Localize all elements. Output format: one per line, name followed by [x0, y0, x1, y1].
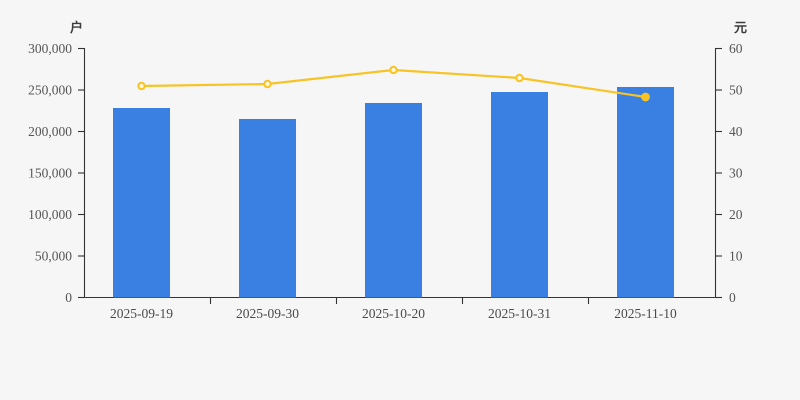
right-tick-label-50: 50 — [729, 83, 743, 98]
bar-2025-09-30[interactable] — [239, 119, 296, 298]
category-label-4: 2025-11-10 — [614, 306, 677, 321]
left-tick-label-200000: 200,000 — [28, 124, 72, 139]
bar-2025-09-19[interactable] — [113, 108, 170, 298]
category-label-3: 2025-10-31 — [488, 306, 551, 321]
category-label-2: 2025-10-20 — [362, 306, 425, 321]
bar-2025-10-31[interactable] — [491, 92, 548, 298]
left-tick-label-100000: 100,000 — [28, 207, 72, 222]
line-point-2025-09-30[interactable] — [264, 81, 270, 87]
category-label-1: 2025-09-30 — [236, 306, 299, 321]
left-tick-label-0: 0 — [65, 290, 72, 305]
right-axis-unit-label: 元 — [734, 21, 747, 36]
chart-container: 户 元 300,000 250,000 200,000 150,000 100,… — [0, 0, 800, 400]
bar-2025-10-20[interactable] — [365, 103, 422, 298]
right-tick-label-0: 0 — [729, 290, 736, 305]
right-tick-label-60: 60 — [729, 41, 743, 56]
bar-2025-11-10[interactable] — [617, 87, 674, 298]
category-label-0: 2025-09-19 — [110, 306, 173, 321]
right-tick-label-20: 20 — [729, 207, 743, 222]
right-tick-label-30: 30 — [729, 166, 743, 181]
shareholder-count-chart: 户 元 300,000 250,000 200,000 150,000 100,… — [0, 0, 800, 400]
left-axis-unit-label: 户 — [70, 20, 83, 36]
right-tick-label-40: 40 — [729, 124, 743, 139]
left-tick-label-250000: 250,000 — [28, 83, 72, 98]
left-tick-label-300000: 300,000 — [28, 41, 72, 56]
right-tick-label-10: 10 — [729, 249, 743, 264]
left-tick-label-50000: 50,000 — [35, 249, 72, 264]
line-point-2025-10-20[interactable] — [390, 67, 396, 73]
line-point-2025-10-31[interactable] — [516, 75, 522, 81]
left-tick-label-150000: 150,000 — [28, 166, 72, 181]
line-point-2025-11-10[interactable] — [642, 94, 649, 101]
line-point-2025-09-19[interactable] — [138, 83, 144, 89]
